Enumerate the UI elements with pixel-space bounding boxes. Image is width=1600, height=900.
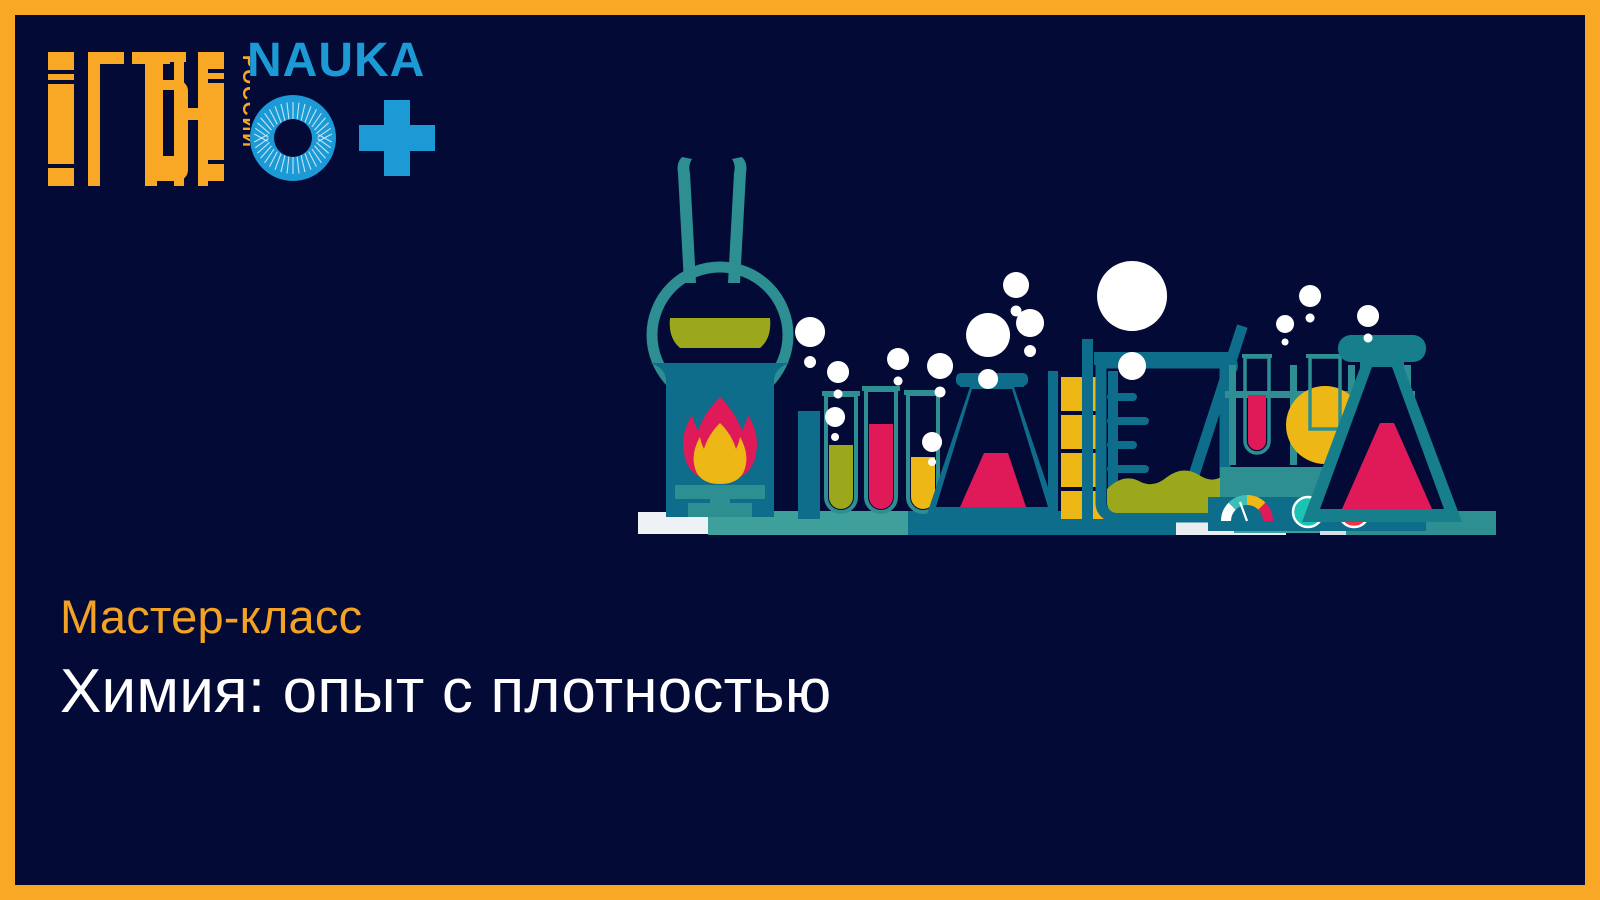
page-title: Химия: опыт с плотностью [60, 658, 1160, 726]
gpntb-logo-right-section: РОССИИ [150, 45, 250, 190]
erlenmeyer-flask-small [926, 373, 1058, 517]
nauka-wordmark: NAUKA [247, 34, 425, 87]
event-type-label: Мастер-класс [60, 590, 1160, 644]
poster-text-block: Мастер-класс Химия: опыт с плотностью [60, 590, 1160, 726]
plus-icon [359, 100, 435, 176]
test-tube-crimson [862, 386, 900, 512]
sunburst-zero-icon [250, 95, 336, 181]
nauka-0-plus-logo: NAUKA [245, 30, 445, 190]
gpntb-rossii-text: РОССИИ [238, 55, 250, 149]
poster-canvas: NAUKA [15, 15, 1585, 885]
chemistry-lab-illustration [620, 145, 1510, 545]
poster-frame: NAUKA [0, 0, 1600, 900]
rack-test-tube-pink [1242, 354, 1272, 453]
bench-post [798, 411, 820, 519]
bunsen-burner-with-flame [650, 157, 790, 517]
